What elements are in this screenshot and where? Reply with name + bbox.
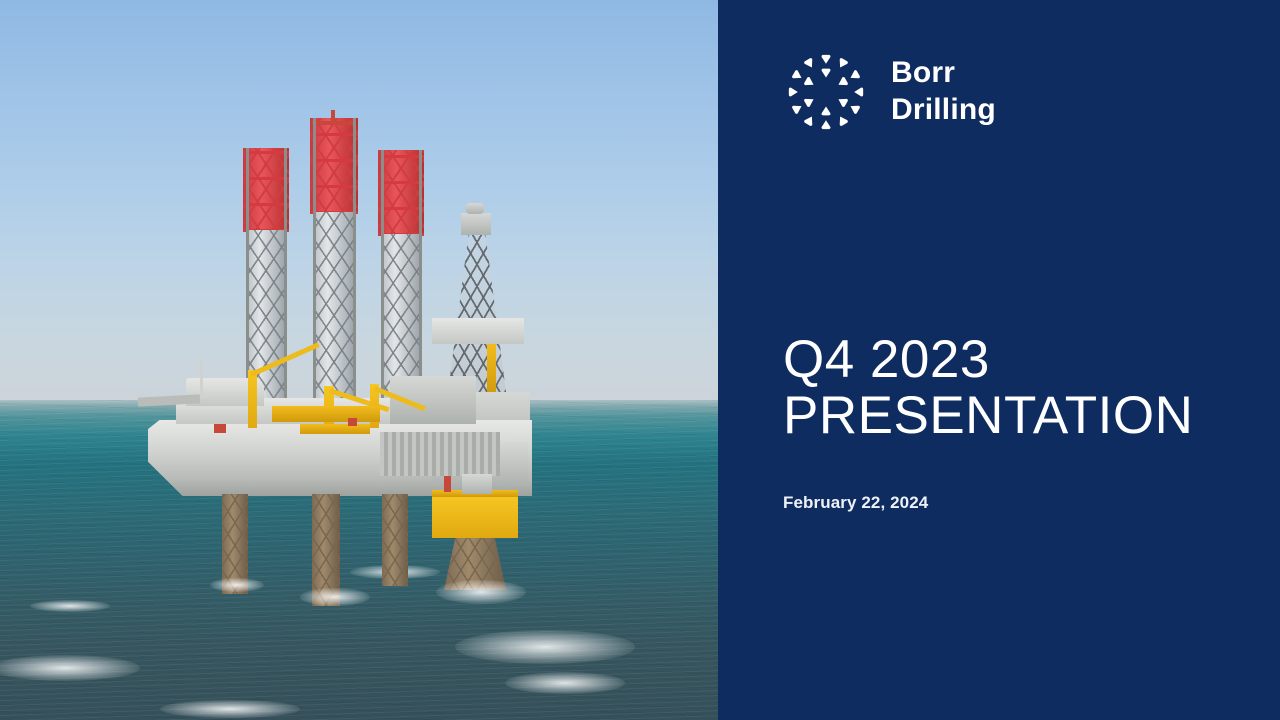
derrick-hoist	[487, 344, 496, 396]
rig-leg-right-chord	[381, 150, 384, 408]
presentation-slide: Borr Drilling Q4 2023 PRESENTATION Febru…	[0, 0, 1280, 720]
rig-leg-right-top-lattice	[378, 150, 424, 236]
wellhead-marker	[444, 476, 451, 492]
deck-machinery	[272, 406, 380, 422]
brand-name-line1: Borr	[891, 55, 996, 92]
rig-leg-center-lattice	[313, 212, 355, 402]
rig-leg-left-top-lattice	[243, 148, 289, 232]
page-title: Q4 2023 PRESENTATION	[783, 332, 1193, 444]
rig-leg-center-chord	[353, 118, 356, 404]
leg-splash	[210, 578, 264, 592]
spud-leg-c-lattice	[382, 494, 408, 586]
hero-photo	[0, 0, 718, 720]
brand-wordmark: Borr Drilling	[891, 55, 996, 128]
wellhead-splash	[436, 580, 526, 604]
rig-leg-right-chord	[419, 150, 422, 408]
derrick-platform	[432, 318, 524, 344]
deck-machinery	[300, 424, 370, 434]
rig-leg-center-cross	[312, 121, 356, 125]
rig-leg-left-chord	[284, 148, 287, 406]
hull-side-panels	[380, 432, 500, 476]
jackup-rig	[0, 0, 718, 720]
borr-dot-circle-icon	[783, 48, 869, 136]
deck-marker	[214, 424, 226, 433]
rig-leg-center-chord	[313, 118, 316, 404]
presentation-date: February 22, 2024	[783, 493, 928, 513]
title-panel: Borr Drilling Q4 2023 PRESENTATION Febru…	[718, 0, 1280, 720]
brand-name-line2: Drilling	[891, 92, 996, 129]
wellhead-platform-deck	[432, 496, 518, 538]
mast-antenna	[200, 360, 203, 398]
leg-splash	[300, 588, 370, 606]
wellhead-housing	[462, 474, 492, 494]
rig-derrick	[448, 232, 506, 392]
crane-mast-left	[248, 370, 257, 428]
rig-leg-left-chord	[246, 148, 249, 406]
derrick-crown-cap	[466, 203, 484, 214]
rig-leg-center-top-lattice	[310, 118, 358, 214]
brand-logo: Borr Drilling	[783, 48, 996, 136]
title-block: Q4 2023 PRESENTATION	[783, 332, 1193, 444]
derrick-crown	[461, 213, 491, 235]
deck-marker	[348, 418, 357, 426]
